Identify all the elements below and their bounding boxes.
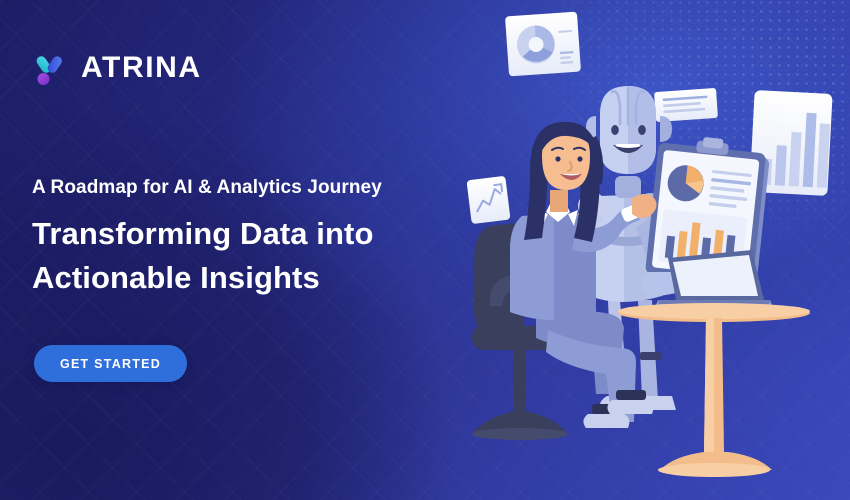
hero-illustration bbox=[452, 0, 850, 500]
line-chart-card bbox=[466, 176, 510, 224]
headline-line-1: Transforming Data into bbox=[32, 212, 492, 256]
atrina-a-mark-icon bbox=[30, 48, 70, 88]
hero-copy: A Roadmap for AI & Analytics Journey Tra… bbox=[32, 176, 492, 300]
hero-banner: ATRINA A Roadmap for AI & Analytics Jour… bbox=[0, 0, 850, 500]
brand-logo[interactable]: ATRINA bbox=[30, 48, 202, 88]
brand-name: ATRINA bbox=[81, 53, 202, 83]
headline-line-2: Actionable Insights bbox=[32, 256, 492, 300]
donut-chart-card bbox=[505, 12, 581, 77]
hero-headline: Transforming Data into Actionable Insigh… bbox=[32, 212, 492, 300]
hero-eyebrow: A Roadmap for AI & Analytics Journey bbox=[32, 176, 492, 200]
get-started-button[interactable]: GET STARTED bbox=[34, 345, 187, 382]
